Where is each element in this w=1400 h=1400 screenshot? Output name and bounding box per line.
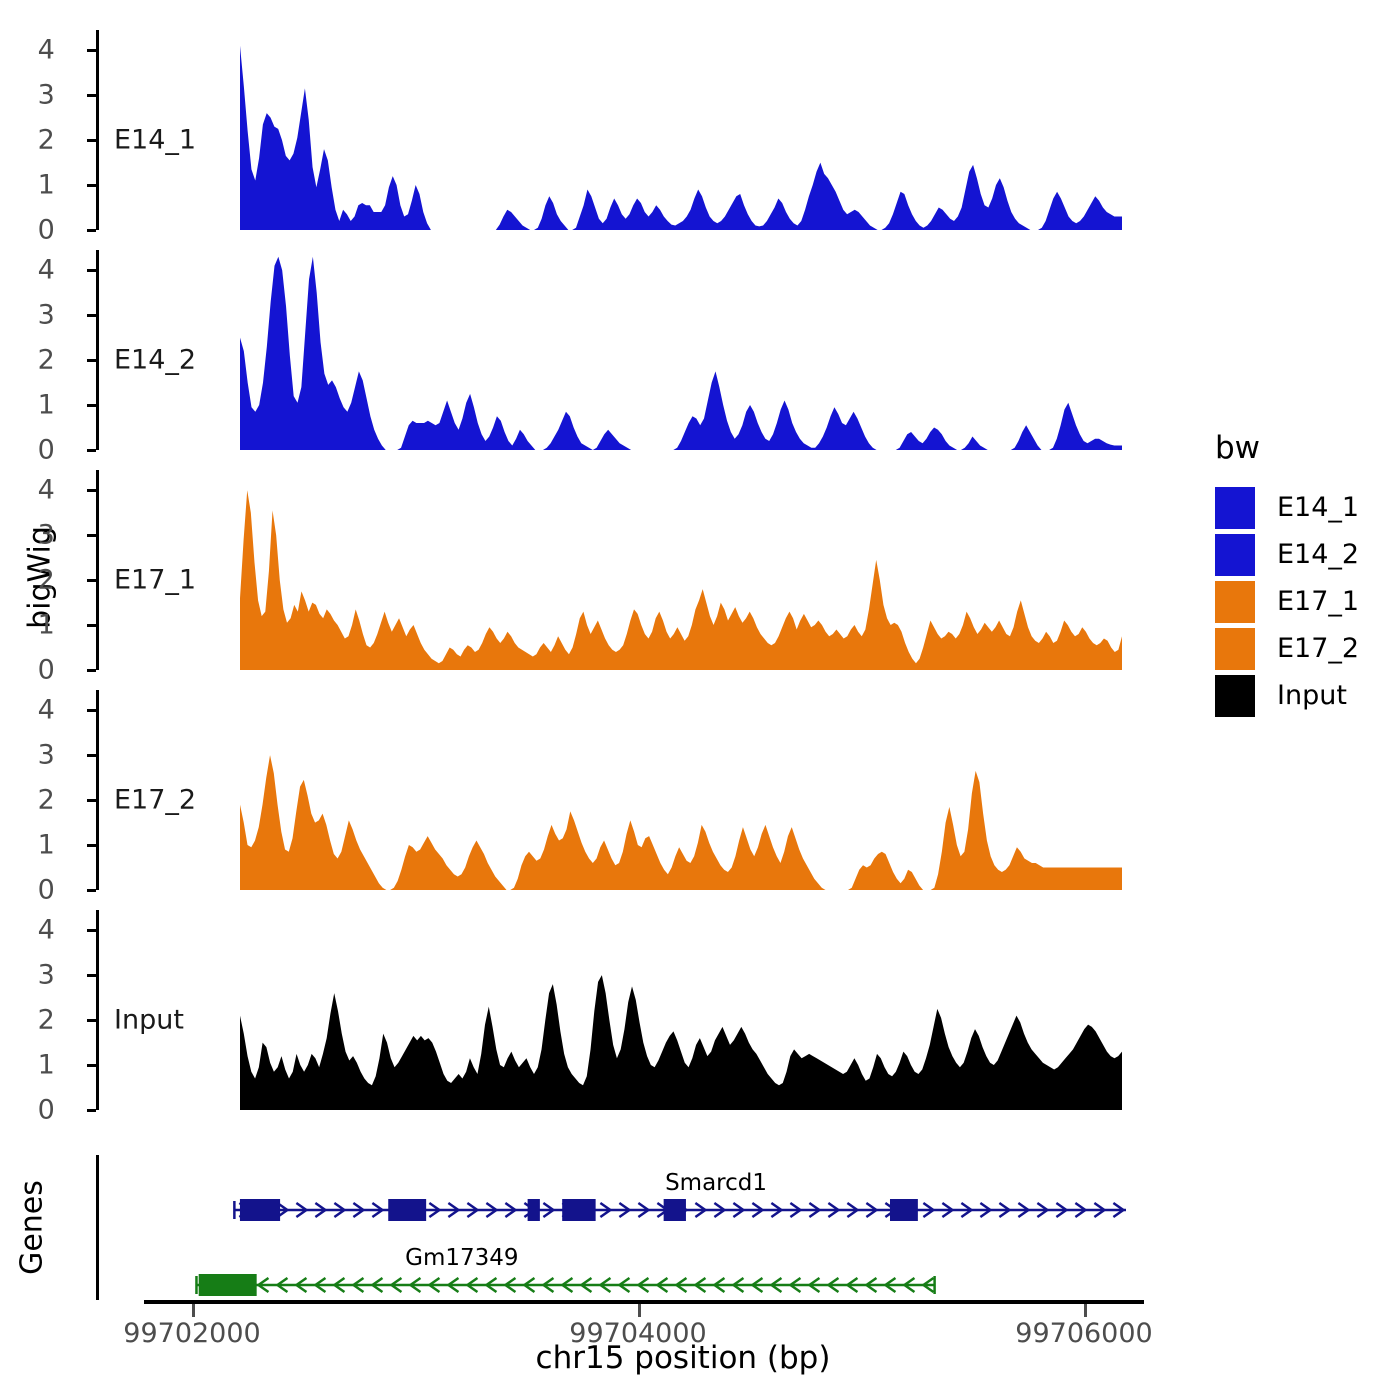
y-tick-label: 4 <box>38 257 55 284</box>
y-tick <box>87 139 96 142</box>
y-tick <box>87 889 96 892</box>
exon-block <box>664 1199 686 1221</box>
y-tick-label: 0 <box>38 1097 55 1124</box>
legend: bw E14_1E14_2E17_1E17_2Input <box>1215 430 1359 719</box>
signal-area-input <box>96 910 1126 1110</box>
y-axis-title-genes: Genes <box>15 1158 50 1298</box>
y-tick-label: 0 <box>38 657 55 684</box>
legend-label: E17_2 <box>1277 633 1359 664</box>
y-tick <box>87 449 96 452</box>
legend-label: E17_1 <box>1277 586 1359 617</box>
signal-area-e17_2 <box>96 690 1126 890</box>
y-tick-label: 3 <box>38 742 55 769</box>
genes-track-panel: Smarcd1Gm17349 <box>96 1155 1126 1300</box>
y-tick-label: 4 <box>38 917 55 944</box>
signal-area-e14_2 <box>96 250 1126 450</box>
signal-area-e14_1 <box>96 30 1126 230</box>
gene-label: Smarcd1 <box>665 1170 767 1196</box>
y-tick-label: 1 <box>38 832 55 859</box>
gene-model-smarcd1[interactable]: Smarcd1 <box>234 1170 1126 1221</box>
y-tick-label: 4 <box>38 37 55 64</box>
track-panel-e14_2: 01234E14_2 <box>96 250 1126 450</box>
legend-title: bw <box>1215 430 1359 466</box>
gene-model-gm17349[interactable]: Gm17349 <box>196 1245 934 1296</box>
exon-block <box>199 1274 257 1296</box>
y-tick <box>87 1064 96 1067</box>
y-tick-label: 2 <box>38 347 55 374</box>
y-tick <box>87 799 96 802</box>
y-tick-label: 0 <box>38 217 55 244</box>
legend-swatch <box>1215 487 1255 529</box>
y-tick <box>87 1109 96 1112</box>
exon-block <box>528 1199 540 1221</box>
y-tick-label: 3 <box>38 302 55 329</box>
x-tick <box>638 1304 641 1317</box>
x-tick <box>192 1304 195 1317</box>
exon-block <box>562 1199 595 1221</box>
y-tick <box>87 974 96 977</box>
legend-label: Input <box>1277 680 1347 711</box>
legend-items: E14_1E14_2E17_1E17_2Input <box>1215 484 1359 719</box>
legend-item-input[interactable]: Input <box>1215 672 1359 719</box>
legend-label: E14_2 <box>1277 539 1359 570</box>
x-tick-label: 99704000 <box>569 1318 706 1349</box>
y-tick-label: 1 <box>38 612 55 639</box>
legend-label: E14_1 <box>1277 492 1359 523</box>
y-tick <box>87 49 96 52</box>
y-tick <box>87 624 96 627</box>
y-tick <box>87 669 96 672</box>
y-tick-label: 0 <box>38 437 55 464</box>
legend-item-e17_2[interactable]: E17_2 <box>1215 625 1359 672</box>
legend-swatch <box>1215 581 1255 623</box>
x-axis-line <box>144 1300 1144 1304</box>
y-tick <box>87 534 96 537</box>
y-tick <box>87 579 96 582</box>
y-tick-label: 4 <box>38 477 55 504</box>
y-tick-label: 3 <box>38 522 55 549</box>
y-tick-label: 4 <box>38 697 55 724</box>
exon-block <box>890 1199 918 1221</box>
legend-item-e17_1[interactable]: E17_1 <box>1215 578 1359 625</box>
y-tick <box>87 844 96 847</box>
y-tick <box>87 229 96 232</box>
y-tick <box>87 359 96 362</box>
x-tick <box>1084 1304 1087 1317</box>
track-panel-e17_1: 01234E17_1 <box>96 470 1126 670</box>
y-tick <box>87 709 96 712</box>
y-tick-label: 1 <box>38 1052 55 1079</box>
y-tick <box>87 184 96 187</box>
y-tick-label: 2 <box>38 1007 55 1034</box>
gene-models: Smarcd1Gm17349 <box>96 1155 1126 1300</box>
y-tick-label: 1 <box>38 172 55 199</box>
y-tick <box>87 489 96 492</box>
y-tick <box>87 314 96 317</box>
y-tick-label: 1 <box>38 392 55 419</box>
track-panel-e17_2: 01234E17_2 <box>96 690 1126 890</box>
y-tick <box>87 404 96 407</box>
exon-block <box>240 1199 280 1221</box>
y-tick-label: 0 <box>38 877 55 904</box>
y-tick-label: 2 <box>38 567 55 594</box>
x-tick-label: 99702000 <box>123 1318 260 1349</box>
track-panel-e14_1: 01234E14_1 <box>96 30 1126 230</box>
legend-item-e14_2[interactable]: E14_2 <box>1215 531 1359 578</box>
track-panel-input: 01234Input <box>96 910 1126 1110</box>
y-tick <box>87 929 96 932</box>
signal-area-e17_1 <box>96 470 1126 670</box>
legend-item-e14_1[interactable]: E14_1 <box>1215 484 1359 531</box>
y-tick <box>87 94 96 97</box>
y-tick-label: 2 <box>38 787 55 814</box>
y-tick-label: 3 <box>38 962 55 989</box>
legend-swatch <box>1215 628 1255 670</box>
y-tick-label: 3 <box>38 82 55 109</box>
gene-label: Gm17349 <box>405 1245 518 1271</box>
legend-swatch <box>1215 534 1255 576</box>
y-tick <box>87 1019 96 1022</box>
exon-block <box>388 1199 426 1221</box>
y-tick-label: 2 <box>38 127 55 154</box>
y-tick <box>87 269 96 272</box>
y-tick <box>87 754 96 757</box>
x-tick-label: 99706000 <box>1015 1318 1152 1349</box>
legend-swatch <box>1215 675 1255 717</box>
